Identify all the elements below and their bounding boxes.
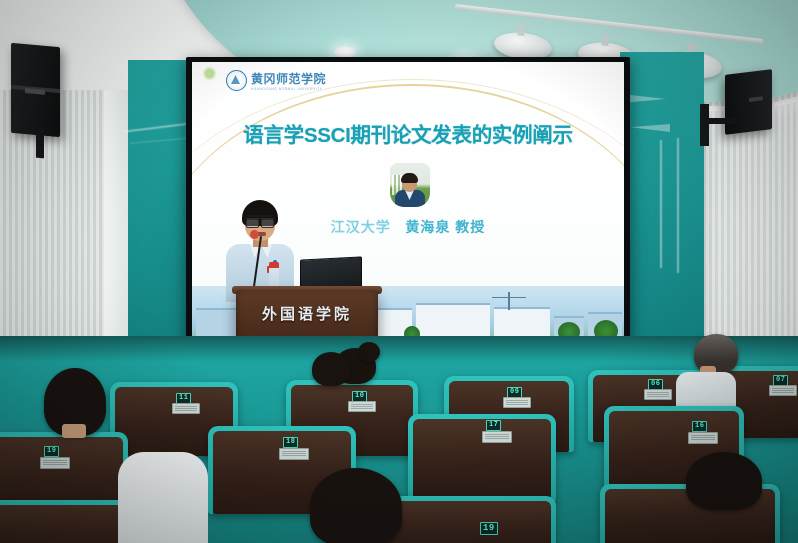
glasses-icon	[246, 218, 274, 226]
presenter-brows	[247, 215, 273, 217]
portrait-hair	[401, 173, 418, 183]
slide-logo-text: 黄冈师范学院	[251, 70, 326, 87]
attendee-head-right-c	[686, 452, 762, 510]
slide-byline-university: 江汉大学	[331, 219, 391, 235]
gloss-reflection-2	[630, 124, 670, 132]
seat-back-pad	[377, 501, 551, 543]
seat-tag-19-bottom: 19	[480, 522, 498, 535]
seat-subtag-18	[279, 448, 309, 460]
slide-green-accent-dot	[204, 68, 215, 79]
seat-tag-17: 17	[486, 420, 501, 431]
slide-byline-speaker: 黄海泉 教授	[405, 219, 485, 235]
university-seal-icon	[226, 70, 247, 91]
seat-subtag-06	[644, 389, 672, 400]
water-bottle-cap	[269, 262, 279, 268]
seat-tag-19-left: 19	[44, 446, 59, 457]
attendee-head-midleft-b	[312, 352, 350, 386]
slide-speaker-portrait	[390, 163, 430, 207]
seat-subtag-11	[172, 403, 200, 414]
seat-row-b-3[interactable]	[408, 414, 556, 502]
attendee-bun-center-a	[358, 342, 380, 362]
right-speaker-post	[700, 104, 709, 146]
seat-tag-16: 16	[692, 421, 707, 432]
back-shadow-band	[0, 336, 798, 362]
podium-sign-text: 外国语学院	[236, 303, 378, 324]
seat-subtag-16	[688, 432, 718, 444]
seat-subtag-17	[482, 431, 512, 443]
right-loudspeaker	[725, 69, 772, 135]
seat-subtag-09	[503, 397, 531, 408]
slide-title: 语言学SSCI期刊论文发表的实例阐示	[192, 118, 624, 148]
microphone-icon	[250, 230, 259, 239]
seat-tag-18: 18	[283, 437, 298, 448]
slide-logo: 黄冈师范学院 HUANGGANG NORMAL UNIVERSITY	[226, 70, 326, 91]
left-loudspeaker	[11, 43, 60, 137]
attendee-torso-left-c	[118, 452, 208, 543]
seat-subtag-19-left	[40, 457, 70, 469]
seat-subtag-10	[348, 401, 376, 412]
attendee-neck-left-b	[62, 424, 86, 438]
left-speaker-bracket	[36, 128, 44, 159]
attendee-head-center-c	[310, 468, 402, 543]
lecture-hall-photo: 黄冈师范学院 HUANGGANG NORMAL UNIVERSITY 语言学SS…	[0, 0, 798, 543]
seat-subtag-07	[769, 385, 797, 396]
